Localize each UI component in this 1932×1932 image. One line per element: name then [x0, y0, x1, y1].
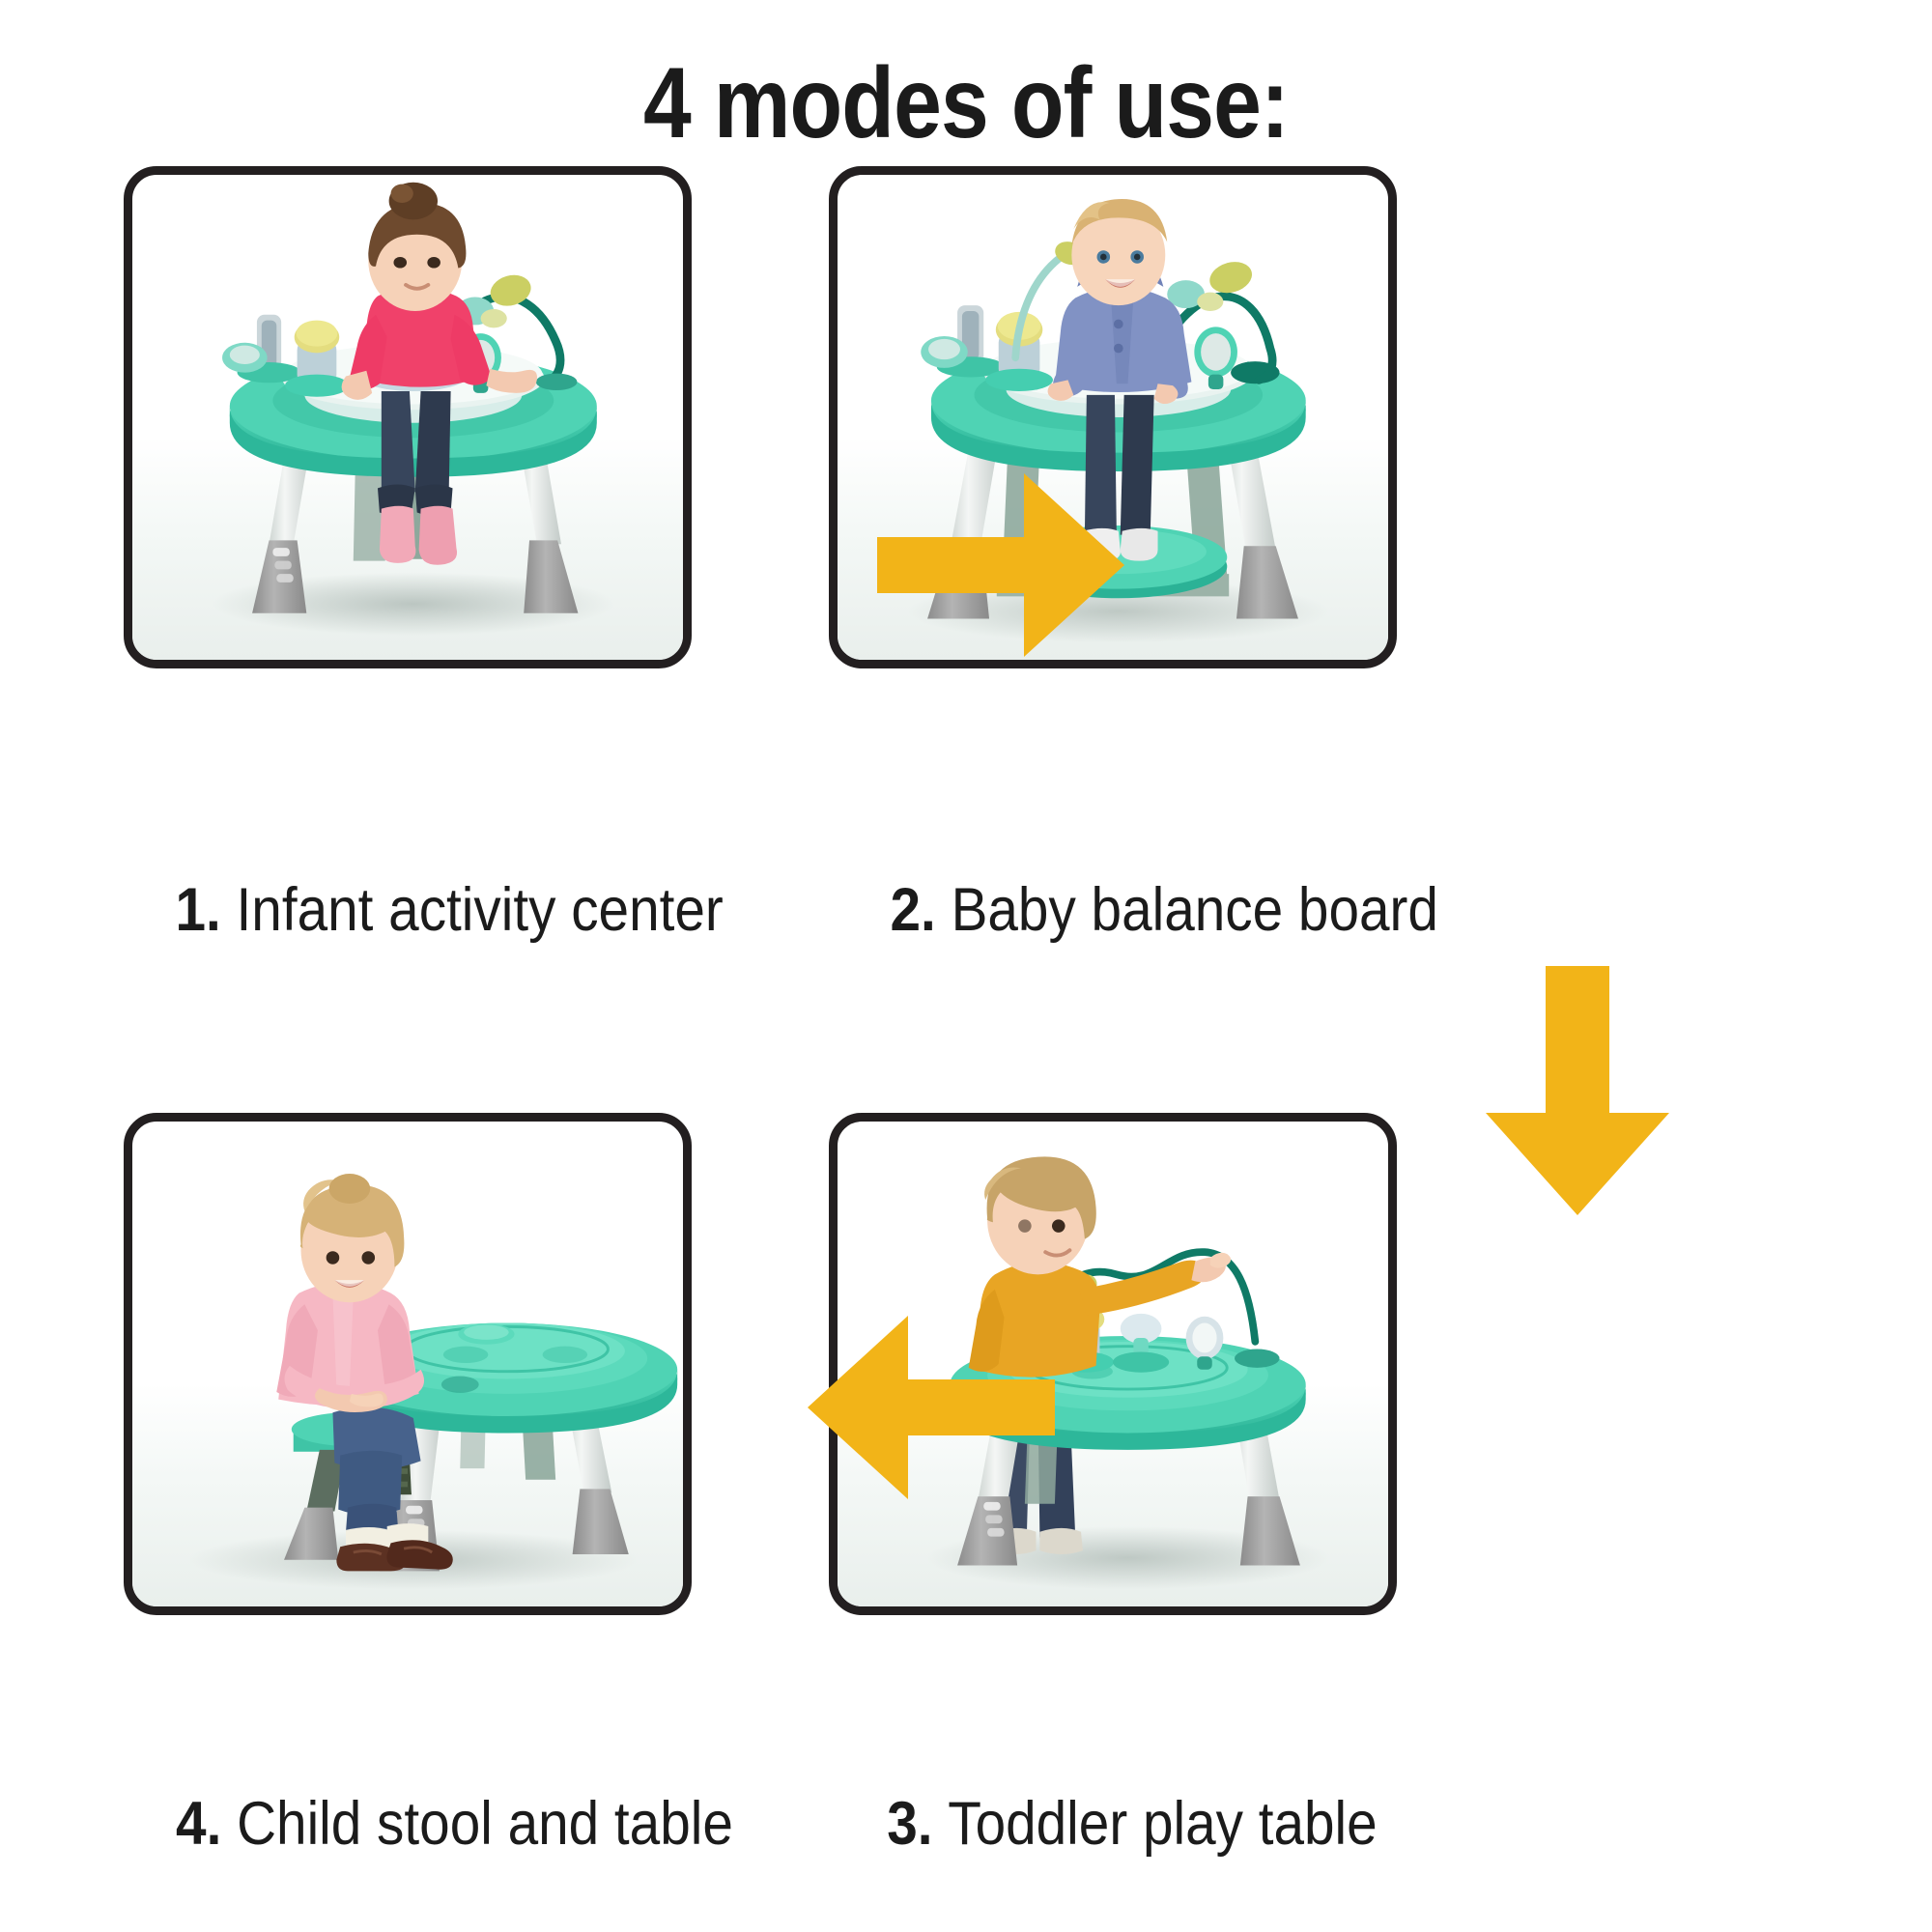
page-title: 4 modes of use: — [135, 46, 1797, 161]
caption-4-label: Child stool and table — [237, 1790, 733, 1858]
panel-4-child-stool-and-table — [124, 1113, 692, 1615]
scene-infant-activity-center — [132, 175, 683, 660]
caption-panel-2: 2. Baby balance board — [891, 875, 1438, 945]
caption-3-number: 3. — [887, 1790, 948, 1858]
scene-child-stool-and-table — [132, 1122, 683, 1606]
arrow-right-icon — [877, 473, 1124, 657]
caption-2-label: Baby balance board — [952, 876, 1438, 944]
caption-2-number: 2. — [891, 876, 952, 944]
caption-1-number: 1. — [176, 876, 237, 944]
arrow-left-panel3-to-panel4 — [808, 1316, 1055, 1499]
caption-panel-1: 1. Infant activity center — [176, 875, 724, 945]
illustration-infant-activity-center — [132, 175, 683, 660]
caption-1-label: Infant activity center — [237, 876, 724, 944]
caption-4-number: 4. — [176, 1790, 237, 1858]
caption-3-label: Toddler play table — [948, 1790, 1377, 1858]
illustration-child-stool-and-table — [132, 1122, 683, 1606]
caption-panel-3: 3. Toddler play table — [887, 1789, 1377, 1859]
caption-panel-4: 4. Child stool and table — [176, 1789, 733, 1859]
panel-1-infant-activity-center — [124, 166, 692, 668]
arrow-left-icon — [808, 1316, 1055, 1499]
arrow-right-panel1-to-panel2 — [877, 473, 1124, 657]
infographic-root: 4 modes of use: — [0, 0, 1932, 1932]
arrow-down-icon — [1486, 966, 1669, 1215]
arrow-down-panel2-to-panel3 — [1486, 966, 1669, 1215]
